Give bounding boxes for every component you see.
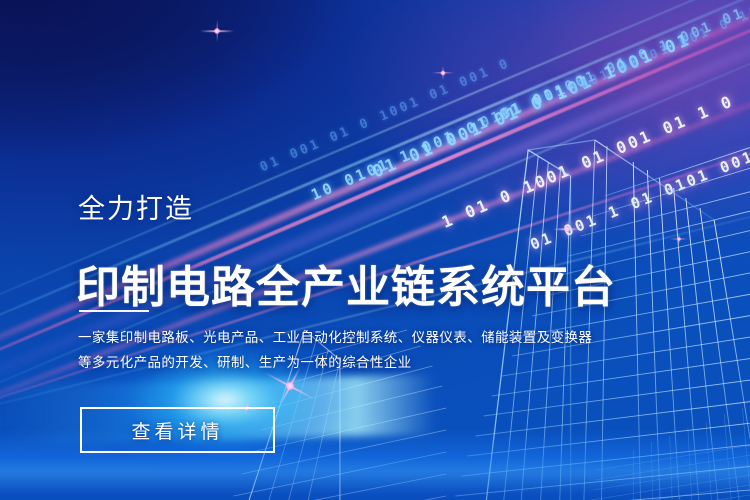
hero-description: 一家集印制电路板、光电产品、工业自动化控制系统、仪器仪表、储能装置及变换器 等多… (78, 325, 548, 375)
hero-eyebrow: 全力打造 (78, 196, 194, 223)
hero-description-line-1: 一家集印制电路板、光电产品、工业自动化控制系统、仪器仪表、储能装置及变换器 (78, 325, 548, 350)
hero-banner: 01 001 01 0 1001 01 001 0 10 0101 1 001 … (0, 0, 750, 500)
view-details-button[interactable]: 查看详情 (80, 407, 275, 453)
headline-divider (79, 310, 149, 312)
hero-description-line-2: 等多元化产品的开发、研制、生产为一体的综合性企业 (78, 350, 548, 375)
hero-headline: 印制电路全产业链系统平台 (76, 265, 616, 311)
hero-content: 全力打造 印制电路全产业链系统平台 一家集印制电路板、光电产品、工业自动化控制系… (78, 0, 638, 500)
